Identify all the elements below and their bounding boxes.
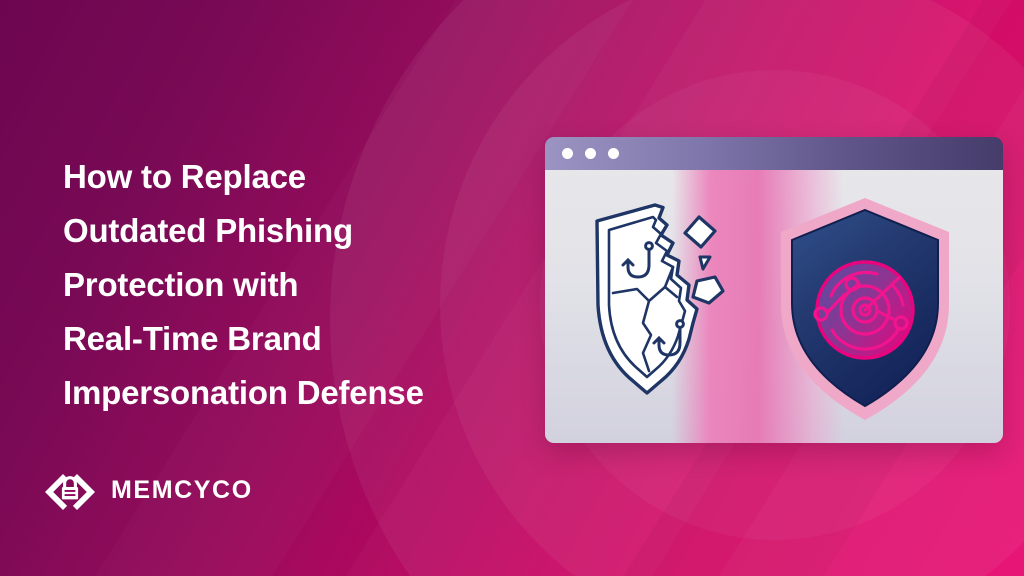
browser-viewport [545,170,1003,443]
headline-line-1: How to Replace [63,150,533,204]
page-title: How to Replace Outdated Phishing Protect… [63,150,533,420]
headline-line-3: Protection with [63,258,533,312]
browser-window-illustration [545,137,1003,443]
shield-with-radar-scan-icon [781,198,949,420]
broken-shield-with-phishing-hooks-icon [597,205,723,393]
window-dot-yellow[interactable] [585,148,596,159]
radar-icon [815,262,913,358]
brand-logo[interactable]: MEMCYCO [42,465,253,515]
padlock-in-chevrons-icon [42,465,98,515]
browser-titlebar [545,137,1003,170]
illustration-artwork [545,170,1003,443]
headline-line-5: Impersonation Defense [63,366,533,420]
brand-wordmark: MEMCYCO [111,476,253,505]
window-dot-red[interactable] [562,148,573,159]
headline-line-4: Real-Time Brand [63,312,533,366]
window-dot-green[interactable] [608,148,619,159]
headline-line-2: Outdated Phishing [63,204,533,258]
